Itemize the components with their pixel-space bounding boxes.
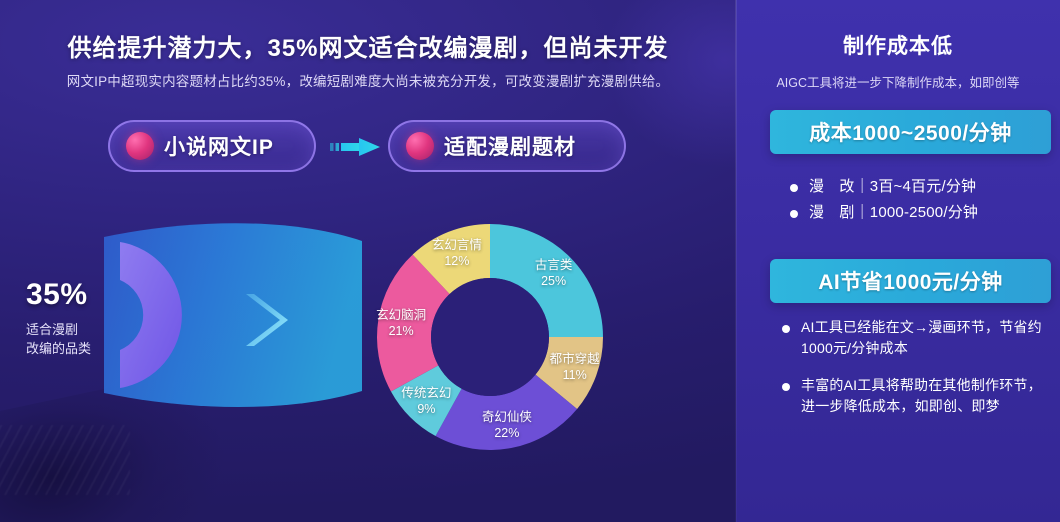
- bullet-dot-icon: [790, 210, 798, 218]
- cost-range-label: 成本1000~2500/分钟: [809, 117, 1012, 147]
- cost-range-card: 成本1000~2500/分钟: [770, 110, 1051, 154]
- ai-detail-list: AI工具已经能在文→漫画环节，节省约1000元/分钟成本丰富的AI工具将帮助在其…: [782, 317, 1054, 433]
- left-title: 供给提升潜力大，35%网文适合改编漫剧，但尚未开发: [0, 28, 736, 63]
- bullet-dot-icon: [782, 383, 790, 391]
- cost-breakdown-text: 漫 改｜3百~4百元/分钟: [809, 176, 976, 198]
- background-streak: [0, 425, 130, 495]
- ai-detail-text: AI工具已经能在文→漫画环节，节省约1000元/分钟成本: [801, 317, 1054, 359]
- donut-label-1: 都市穿越11%: [525, 351, 625, 383]
- cost-breakdown-list: 漫 改｜3百~4百元/分钟漫 剧｜1000-2500/分钟: [790, 176, 1052, 228]
- slide-canvas: 供给提升潜力大，35%网文适合改编漫剧，但尚未开发 网文IP中超现实内容题材占比…: [0, 0, 1060, 522]
- cost-breakdown-text: 漫 剧｜1000-2500/分钟: [809, 202, 978, 224]
- cost-breakdown-item: 漫 改｜3百~4百元/分钟: [790, 176, 1052, 198]
- donut-label-3: 传统玄幻9%: [376, 385, 476, 417]
- ai-saving-card: AI节省1000元/分钟: [770, 259, 1051, 303]
- bullet-dot-icon: [790, 184, 798, 192]
- pill-target-label: 适配漫剧题材: [444, 131, 576, 161]
- bullet-dot-icon: [782, 325, 790, 333]
- ai-detail-text: 丰富的AI工具将帮助在其他制作环节，进一步降低成本，如即创、即梦: [801, 375, 1054, 417]
- pill-source-ip[interactable]: 小说网文IP: [108, 120, 316, 172]
- right-subtitle: AIGC工具将进一步下降制作成本，如即创等: [736, 72, 1060, 91]
- pill-target-genre[interactable]: 适配漫剧题材: [388, 120, 626, 172]
- funnel-fan-shape: [110, 240, 206, 390]
- donut-label-0: 古言类25%: [504, 257, 604, 289]
- ai-detail-item: AI工具已经能在文→漫画环节，节省约1000元/分钟成本: [782, 317, 1054, 359]
- ai-detail-item: 丰富的AI工具将帮助在其他制作环节，进一步降低成本，如即创、即梦: [782, 375, 1054, 417]
- genre-donut-chart: 古言类25%都市穿越11%奇幻仙侠22%传统玄幻9%玄幻脑洞21%玄幻言情12%: [372, 219, 608, 455]
- callout-percent: 35%: [26, 278, 136, 312]
- right-title: 制作成本低: [736, 30, 1060, 60]
- pill-bullet-icon: [126, 132, 154, 160]
- donut-label-4: 玄幻脑洞21%: [351, 307, 451, 339]
- chevron-right-icon: [240, 290, 292, 350]
- callout-label: 适合漫剧改编的品类: [26, 320, 136, 358]
- pill-bullet-icon: [406, 132, 434, 160]
- arrow-right-icon: [330, 136, 382, 158]
- left-subtitle: 网文IP中超现实内容题材占比约35%，改编短剧难度大尚未被充分开发，可改变漫剧扩…: [0, 70, 736, 90]
- cost-breakdown-item: 漫 剧｜1000-2500/分钟: [790, 202, 1052, 224]
- ai-saving-label: AI节省1000元/分钟: [818, 266, 1003, 296]
- donut-label-5: 玄幻言情12%: [407, 237, 507, 269]
- pill-source-label: 小说网文IP: [164, 131, 274, 161]
